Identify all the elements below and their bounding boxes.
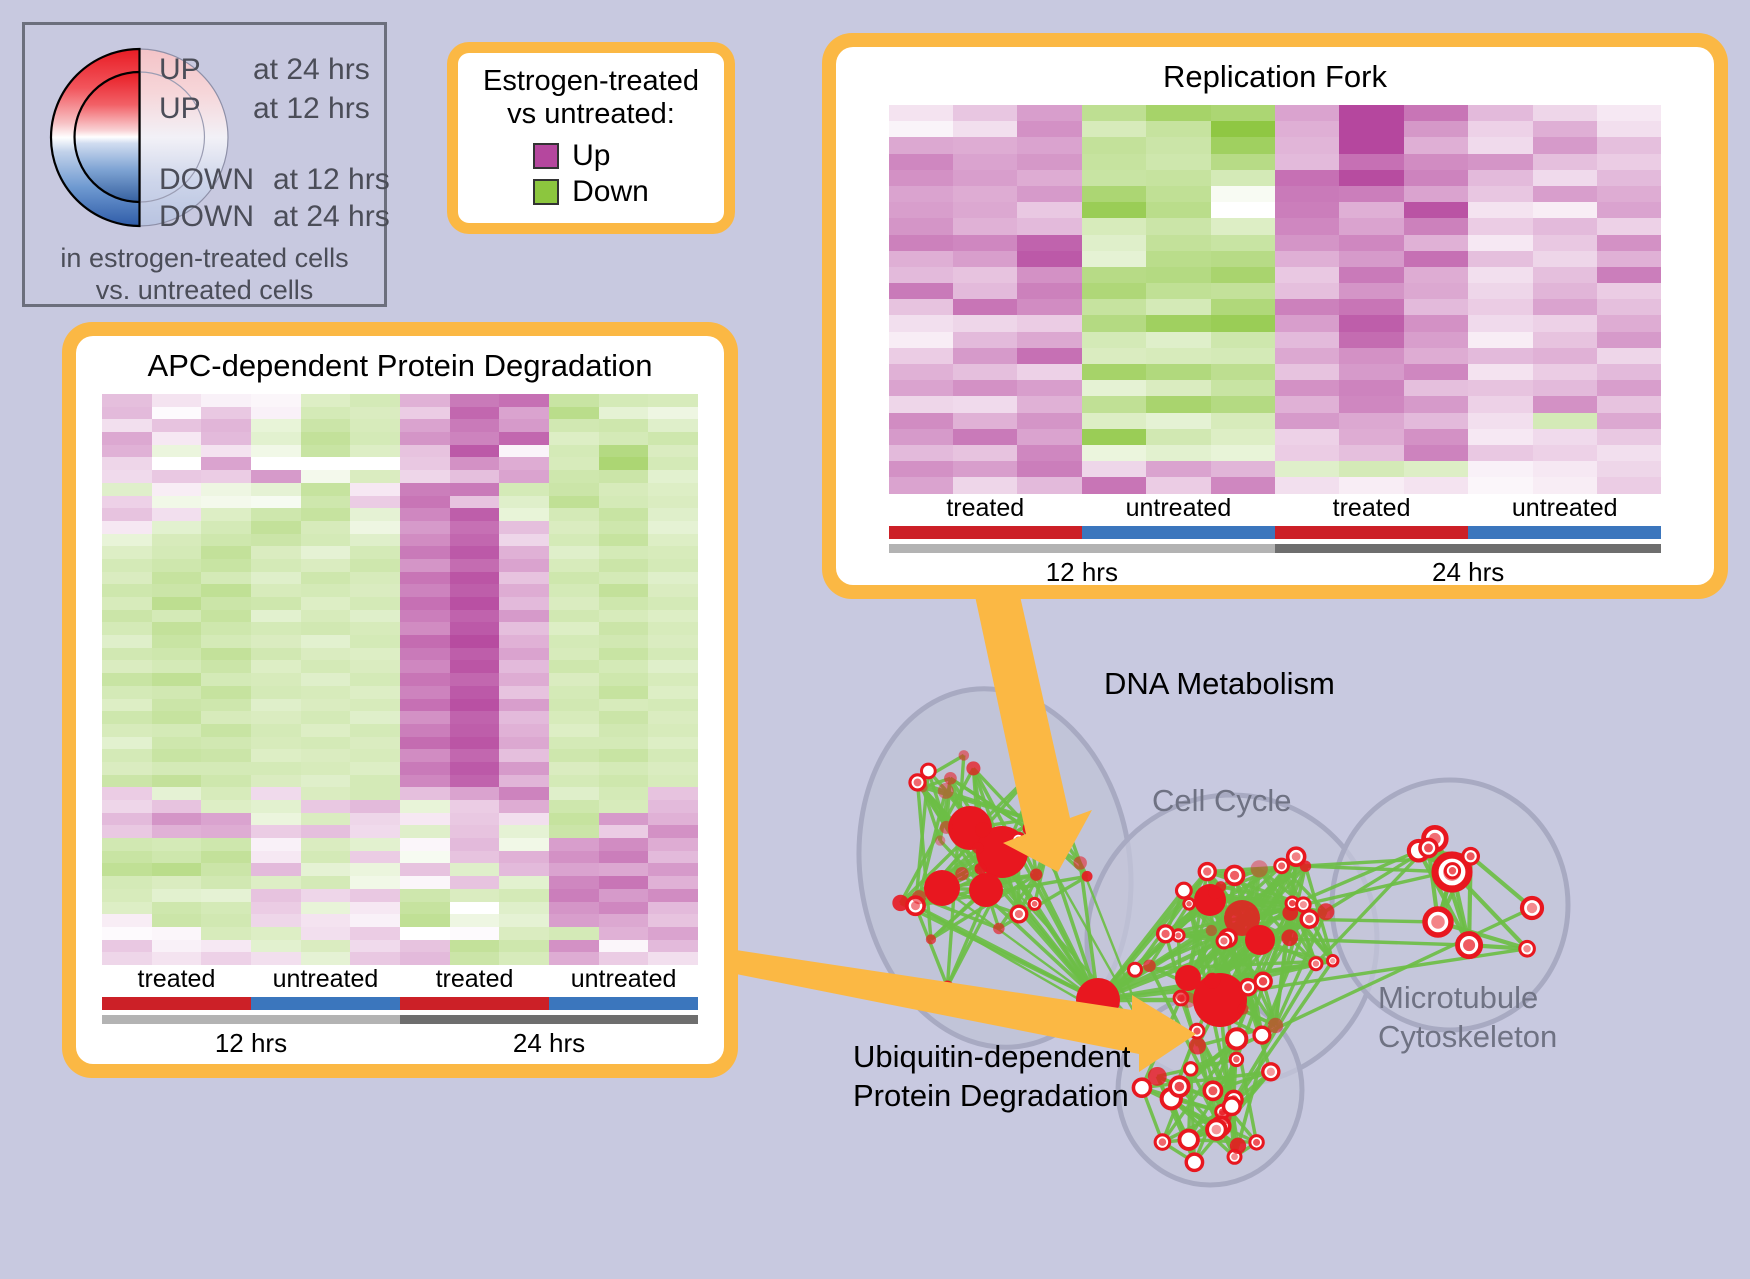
heatmap-cell bbox=[152, 508, 202, 521]
heatmap-cell bbox=[549, 889, 599, 902]
heatmap-cell bbox=[953, 283, 1017, 299]
heatmap-cell bbox=[251, 813, 301, 826]
heatmap-cell bbox=[450, 737, 500, 750]
heatmap-cell bbox=[450, 610, 500, 623]
heatmap-cell bbox=[648, 572, 698, 585]
heatmap-cell bbox=[499, 927, 549, 940]
heatmap-cell bbox=[599, 876, 649, 889]
axis-group-bar-1 bbox=[1082, 526, 1275, 539]
heatmap-cell bbox=[450, 660, 500, 673]
heatmap-cell bbox=[450, 635, 500, 648]
heatmap-cell bbox=[350, 496, 400, 509]
heatmap-cell bbox=[599, 419, 649, 432]
network-node bbox=[993, 923, 1004, 934]
heatmap-cell bbox=[400, 622, 450, 635]
heatmap-cell bbox=[1404, 186, 1468, 202]
heatmap-cell bbox=[1211, 348, 1275, 364]
heatmap-cell bbox=[251, 940, 301, 953]
network-node bbox=[1251, 860, 1268, 877]
heatmap-cell bbox=[251, 521, 301, 534]
legend-key-card: Estrogen-treated vs untreated: Up Down bbox=[447, 42, 735, 234]
heatmap-cell bbox=[201, 660, 251, 673]
heatmap-cell bbox=[648, 622, 698, 635]
heatmap-cell bbox=[1468, 380, 1532, 396]
heatmap-cell bbox=[1404, 477, 1468, 493]
heatmap-cell bbox=[1275, 170, 1339, 186]
heatmap-cell bbox=[889, 461, 953, 477]
heatmap-cell bbox=[201, 419, 251, 432]
axis-replication-fork: treated untreated treated untreated bbox=[889, 494, 1662, 586]
heatmap-cell bbox=[549, 597, 599, 610]
heatmap-cell bbox=[599, 889, 649, 902]
network-node bbox=[892, 895, 908, 911]
heatmap-cell bbox=[1468, 315, 1532, 331]
heatmap-replication-fork bbox=[889, 105, 1662, 494]
heatmap-cell bbox=[1082, 396, 1146, 412]
network-node bbox=[1230, 1138, 1246, 1154]
heatmap-cell bbox=[102, 445, 152, 458]
heatmap-cell bbox=[1468, 267, 1532, 283]
heatmap-cell bbox=[1468, 332, 1532, 348]
network-node bbox=[1268, 1018, 1283, 1033]
heatmap-cell bbox=[350, 508, 400, 521]
heatmap-cell bbox=[648, 508, 698, 521]
heatmap-cell bbox=[1404, 299, 1468, 315]
heatmap-cell bbox=[648, 940, 698, 953]
heatmap-cell bbox=[450, 622, 500, 635]
heatmap-cell bbox=[1146, 137, 1210, 153]
heatmap-cell bbox=[400, 610, 450, 623]
heatmap-cell bbox=[648, 775, 698, 788]
network-node-core bbox=[1231, 1153, 1238, 1160]
heatmap-cell bbox=[400, 952, 450, 965]
cluster-label-microtubule-cytoskeleton: Microtubule Cytoskeleton bbox=[1378, 979, 1557, 1057]
heatmap-cell bbox=[953, 121, 1017, 137]
heatmap-cell bbox=[648, 737, 698, 750]
heatmap-cell bbox=[1146, 348, 1210, 364]
heatmap-cell bbox=[450, 838, 500, 851]
network-node bbox=[975, 863, 987, 875]
heatmap-cell bbox=[152, 572, 202, 585]
heatmap-cell bbox=[152, 800, 202, 813]
heatmap-cell bbox=[499, 407, 549, 420]
network-node-core bbox=[914, 778, 922, 786]
heatmap-cell bbox=[450, 940, 500, 953]
heatmap-cell bbox=[450, 902, 500, 915]
heatmap-cell bbox=[1468, 429, 1532, 445]
heatmap-cell bbox=[599, 534, 649, 547]
heatmap-cell bbox=[301, 927, 351, 940]
heatmap-cell bbox=[251, 584, 301, 597]
heatmap-cell bbox=[301, 610, 351, 623]
heatmap-cell bbox=[499, 635, 549, 648]
heatmap-cell bbox=[1275, 429, 1339, 445]
heatmap-cell bbox=[1533, 251, 1597, 267]
heatmap-cell bbox=[450, 927, 500, 940]
heatmap-cell bbox=[1211, 154, 1275, 170]
heatmap-cell bbox=[1275, 364, 1339, 380]
heatmap-cell bbox=[1017, 348, 1081, 364]
heatmap-cell bbox=[648, 483, 698, 496]
heatmap-cell bbox=[499, 800, 549, 813]
heatmap-cell bbox=[251, 496, 301, 509]
heatmap-cell bbox=[301, 762, 351, 775]
heatmap-cell bbox=[499, 673, 549, 686]
microtubule-line2: Cytoskeleton bbox=[1378, 1018, 1557, 1057]
heatmap-cell bbox=[1082, 332, 1146, 348]
heatmap-cell bbox=[1017, 202, 1081, 218]
heatmap-cell bbox=[1211, 186, 1275, 202]
heatmap-cell bbox=[889, 413, 953, 429]
heatmap-cell bbox=[1404, 413, 1468, 429]
heatmap-cell bbox=[1339, 477, 1403, 493]
heatmap-cell bbox=[499, 902, 549, 915]
heatmap-cell bbox=[499, 940, 549, 953]
heatmap-cell bbox=[1404, 105, 1468, 121]
heatmap-cell bbox=[152, 838, 202, 851]
heatmap-cell bbox=[1597, 380, 1661, 396]
heatmap-cell bbox=[152, 483, 202, 496]
heatmap-cell bbox=[450, 699, 500, 712]
axis-group-bar-0 bbox=[102, 997, 251, 1010]
heatmap-cell bbox=[152, 914, 202, 927]
heatmap-cell bbox=[301, 559, 351, 572]
heatmap-cell bbox=[152, 546, 202, 559]
heatmap-cell bbox=[102, 508, 152, 521]
heatmap-cell bbox=[648, 838, 698, 851]
heatmap-cell bbox=[251, 838, 301, 851]
heatmap-cell bbox=[102, 407, 152, 420]
heatmap-cell bbox=[648, 927, 698, 940]
heatmap-cell bbox=[251, 483, 301, 496]
heatmap-cell bbox=[152, 635, 202, 648]
network-node-core bbox=[1186, 901, 1192, 907]
heatmap-cell bbox=[889, 299, 953, 315]
heatmap-cell bbox=[1146, 396, 1210, 412]
heatmap-cell bbox=[400, 914, 450, 927]
heatmap-cell bbox=[152, 863, 202, 876]
heatmap-cell bbox=[450, 686, 500, 699]
heatmap-cell bbox=[889, 121, 953, 137]
heatmap-cell bbox=[549, 838, 599, 851]
heatmap-cell bbox=[1146, 477, 1210, 493]
heatmap-cell bbox=[201, 889, 251, 902]
heatmap-cell bbox=[251, 470, 301, 483]
heatmap-cell bbox=[201, 673, 251, 686]
network-node bbox=[935, 835, 945, 845]
heatmap-cell bbox=[1597, 299, 1661, 315]
heatmap-cell bbox=[549, 952, 599, 965]
panel-replication-fork-title: Replication Fork bbox=[1163, 59, 1387, 95]
heatmap-cell bbox=[201, 749, 251, 762]
colorwheel-row-2-time: at 12 hrs bbox=[273, 163, 390, 197]
heatmap-cell bbox=[1597, 461, 1661, 477]
heatmap-cell bbox=[102, 825, 152, 838]
heatmap-cell bbox=[350, 597, 400, 610]
heatmap-cell bbox=[1597, 105, 1661, 121]
heatmap-cell bbox=[1597, 396, 1661, 412]
heatmap-cell bbox=[301, 546, 351, 559]
heatmap-cell bbox=[152, 902, 202, 915]
heatmap-cell bbox=[450, 394, 500, 407]
heatmap-cell bbox=[549, 699, 599, 712]
network-node-core bbox=[1463, 939, 1475, 951]
heatmap-cell bbox=[350, 419, 400, 432]
heatmap-cell bbox=[102, 724, 152, 737]
heatmap-cell bbox=[1339, 413, 1403, 429]
heatmap-cell bbox=[1082, 429, 1146, 445]
heatmap-cell bbox=[648, 800, 698, 813]
heatmap-cell bbox=[102, 711, 152, 724]
heatmap-cell bbox=[251, 635, 301, 648]
heatmap-cell bbox=[1533, 315, 1597, 331]
heatmap-cell bbox=[889, 380, 953, 396]
heatmap-cell bbox=[301, 660, 351, 673]
heatmap-cell bbox=[152, 521, 202, 534]
heatmap-cell bbox=[450, 889, 500, 902]
heatmap-cell bbox=[1339, 380, 1403, 396]
heatmap-cell bbox=[301, 838, 351, 851]
heatmap-cell bbox=[251, 622, 301, 635]
heatmap-cell bbox=[201, 775, 251, 788]
heatmap-cell bbox=[201, 635, 251, 648]
heatmap-cell bbox=[1275, 267, 1339, 283]
heatmap-cell bbox=[1339, 348, 1403, 364]
heatmap-cell bbox=[1533, 380, 1597, 396]
heatmap-cell bbox=[499, 419, 549, 432]
heatmap-cell bbox=[400, 673, 450, 686]
heatmap-cell bbox=[1339, 105, 1403, 121]
heatmap-cell bbox=[1082, 267, 1146, 283]
key-item-down: Down bbox=[533, 175, 649, 209]
heatmap-cell bbox=[1017, 445, 1081, 461]
heatmap-cell bbox=[450, 508, 500, 521]
heatmap-cell bbox=[1082, 202, 1146, 218]
network-node-core bbox=[1313, 960, 1319, 966]
heatmap-cell bbox=[1404, 235, 1468, 251]
axis-group-bar-2 bbox=[400, 997, 549, 1010]
heatmap-cell bbox=[201, 432, 251, 445]
heatmap-cell bbox=[251, 660, 301, 673]
heatmap-cell bbox=[499, 863, 549, 876]
heatmap-cell bbox=[1211, 413, 1275, 429]
heatmap-cell bbox=[201, 610, 251, 623]
heatmap-cell bbox=[1597, 202, 1661, 218]
heatmap-cell bbox=[301, 635, 351, 648]
heatmap-cell bbox=[350, 432, 400, 445]
heatmap-cell bbox=[1211, 461, 1275, 477]
network-node bbox=[959, 750, 970, 761]
cluster-label-ubiquitin-protein-degradation: Ubiquitin-dependent Protein Degradation bbox=[853, 1038, 1131, 1116]
heatmap-cell bbox=[1597, 364, 1661, 380]
network-node-core bbox=[1230, 871, 1239, 880]
panel-apc-title: APC-dependent Protein Degradation bbox=[148, 348, 653, 384]
heatmap-cell bbox=[549, 483, 599, 496]
heatmap-cell bbox=[450, 952, 500, 965]
heatmap-cell bbox=[1339, 461, 1403, 477]
heatmap-cell bbox=[201, 622, 251, 635]
heatmap-cell bbox=[1468, 413, 1532, 429]
heatmap-cell bbox=[1597, 315, 1661, 331]
heatmap-cell bbox=[1146, 332, 1210, 348]
heatmap-cell bbox=[1597, 186, 1661, 202]
heatmap-cell bbox=[400, 470, 450, 483]
heatmap-cell bbox=[1533, 121, 1597, 137]
heatmap-cell bbox=[953, 332, 1017, 348]
network-node-core bbox=[1278, 862, 1285, 869]
heatmap-cell bbox=[499, 876, 549, 889]
heatmap-cell bbox=[599, 914, 649, 927]
heatmap-cell bbox=[648, 711, 698, 724]
heatmap-cell bbox=[102, 546, 152, 559]
heatmap-cell bbox=[1211, 299, 1275, 315]
heatmap-cell bbox=[450, 787, 500, 800]
heatmap-cell bbox=[350, 927, 400, 940]
heatmap-cell bbox=[1597, 137, 1661, 153]
heatmap-cell bbox=[648, 724, 698, 737]
cluster-label-cell-cycle: Cell Cycle bbox=[1152, 783, 1292, 819]
heatmap-cell bbox=[953, 429, 1017, 445]
colorwheel-row-3-direction: DOWN bbox=[159, 200, 254, 234]
network-node-core bbox=[1289, 900, 1295, 906]
heatmap-cell bbox=[450, 407, 500, 420]
heatmap-cell bbox=[889, 283, 953, 299]
heatmap-cell bbox=[251, 876, 301, 889]
heatmap-cell bbox=[301, 534, 351, 547]
heatmap-cell bbox=[549, 648, 599, 661]
network-node-core bbox=[1015, 910, 1023, 918]
heatmap-cell bbox=[1146, 235, 1210, 251]
heatmap-cell bbox=[1017, 413, 1081, 429]
heatmap-cell bbox=[648, 445, 698, 458]
heatmap-cell bbox=[1211, 315, 1275, 331]
ubiquitin-line1: Ubiquitin-dependent bbox=[853, 1038, 1131, 1077]
heatmap-cell bbox=[1404, 251, 1468, 267]
heatmap-cell bbox=[201, 559, 251, 572]
heatmap-cell bbox=[499, 775, 549, 788]
network-node-core bbox=[1203, 867, 1211, 875]
heatmap-cell bbox=[499, 470, 549, 483]
heatmap-cell bbox=[450, 648, 500, 661]
network-node-core bbox=[1267, 1068, 1275, 1076]
heatmap-cell bbox=[549, 737, 599, 750]
heatmap-cell bbox=[1082, 251, 1146, 267]
heatmap-cell bbox=[1275, 299, 1339, 315]
heatmap-cell bbox=[102, 851, 152, 864]
heatmap-cell bbox=[251, 863, 301, 876]
heatmap-cell bbox=[1275, 218, 1339, 234]
heatmap-cell bbox=[152, 737, 202, 750]
heatmap-cell bbox=[350, 699, 400, 712]
heatmap-cell bbox=[201, 686, 251, 699]
heatmap-cell bbox=[251, 673, 301, 686]
heatmap-cell bbox=[549, 394, 599, 407]
network-node-ring bbox=[1254, 1027, 1270, 1043]
heatmap-cell bbox=[648, 673, 698, 686]
heatmap-cell bbox=[1533, 267, 1597, 283]
heatmap-cell bbox=[1017, 283, 1081, 299]
heatmap-cell bbox=[1468, 396, 1532, 412]
network-node bbox=[1208, 886, 1221, 899]
network-node-ring bbox=[1186, 1154, 1202, 1170]
heatmap-cell bbox=[953, 461, 1017, 477]
heatmap-cell bbox=[953, 413, 1017, 429]
heatmap-cell bbox=[400, 508, 450, 521]
network-node bbox=[1148, 1067, 1167, 1086]
heatmap-cell bbox=[953, 137, 1017, 153]
network-node-core bbox=[1305, 915, 1314, 924]
axis-group-label-0: treated bbox=[889, 494, 1082, 523]
key-items: Up Down bbox=[533, 137, 649, 211]
axis-group-label-3: untreated bbox=[1468, 494, 1661, 523]
heatmap-cell bbox=[549, 914, 599, 927]
heatmap-cell bbox=[152, 559, 202, 572]
network-node bbox=[944, 772, 957, 785]
heatmap-cell bbox=[1146, 105, 1210, 121]
heatmap-cell bbox=[1275, 235, 1339, 251]
heatmap-cell bbox=[1082, 477, 1146, 493]
up-swatch-icon bbox=[533, 143, 559, 169]
heatmap-cell bbox=[499, 622, 549, 635]
heatmap-cell bbox=[350, 902, 400, 915]
heatmap-cell bbox=[599, 546, 649, 559]
heatmap-cell bbox=[301, 483, 351, 496]
network-node bbox=[1143, 960, 1156, 973]
network-node-core bbox=[1233, 1056, 1239, 1062]
heatmap-cell bbox=[301, 699, 351, 712]
heatmap-cell bbox=[350, 952, 400, 965]
heatmap-cell bbox=[251, 737, 301, 750]
heatmap-cell bbox=[102, 635, 152, 648]
key-item-up-label: Up bbox=[572, 139, 610, 173]
heatmap-cell bbox=[450, 876, 500, 889]
heatmap-cell bbox=[549, 851, 599, 864]
heatmap-cell bbox=[1597, 348, 1661, 364]
key-title-line2: vs untreated: bbox=[507, 98, 675, 131]
heatmap-cell bbox=[648, 660, 698, 673]
heatmap-cell bbox=[1146, 218, 1210, 234]
heatmap-cell bbox=[152, 610, 202, 623]
heatmap-cell bbox=[1468, 154, 1532, 170]
heatmap-cell bbox=[1533, 348, 1597, 364]
heatmap-cell bbox=[400, 800, 450, 813]
network-node-core bbox=[1330, 958, 1335, 963]
heatmap-cell bbox=[251, 394, 301, 407]
axis-group-label-1: untreated bbox=[1082, 494, 1275, 523]
network-node bbox=[1045, 837, 1061, 853]
heatmap-cell bbox=[201, 597, 251, 610]
heatmap-cell bbox=[450, 851, 500, 864]
heatmap-cell bbox=[400, 889, 450, 902]
heatmap-cell bbox=[201, 787, 251, 800]
heatmap-cell bbox=[1017, 299, 1081, 315]
heatmap-cell bbox=[1533, 137, 1597, 153]
heatmap-cell bbox=[1146, 380, 1210, 396]
heatmap-cell bbox=[1017, 364, 1081, 380]
heatmap-cell bbox=[251, 902, 301, 915]
network-node-ring bbox=[1184, 1063, 1196, 1075]
heatmap-cell bbox=[1468, 348, 1532, 364]
heatmap-cell bbox=[201, 407, 251, 420]
heatmap-cell bbox=[251, 800, 301, 813]
heatmap-cell bbox=[1404, 380, 1468, 396]
heatmap-cell bbox=[152, 445, 202, 458]
heatmap-cell bbox=[1146, 283, 1210, 299]
heatmap-cell bbox=[648, 534, 698, 547]
heatmap-cell bbox=[549, 432, 599, 445]
heatmap-cell bbox=[152, 711, 202, 724]
heatmap-cell bbox=[1404, 202, 1468, 218]
